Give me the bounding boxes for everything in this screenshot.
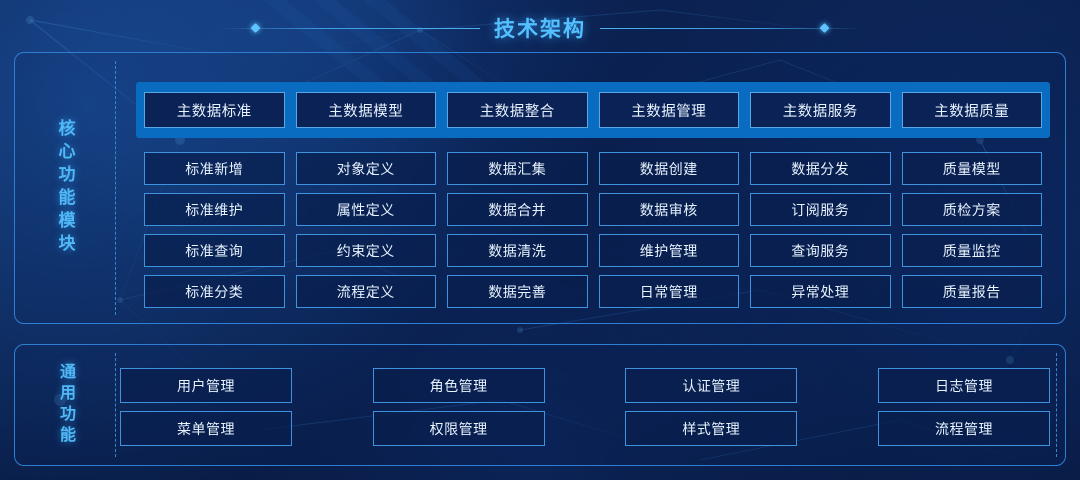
general-panel-divider-right <box>1056 353 1057 457</box>
core-cell-1-5[interactable]: 质检方案 <box>902 193 1043 226</box>
general-cell-3-0[interactable]: 日志管理 <box>878 368 1050 403</box>
title-rule-right <box>600 28 862 29</box>
master-data-header-band: 主数据标准 主数据模型 主数据整合 主数据管理 主数据服务 主数据质量 <box>136 82 1050 138</box>
core-modules-label: 核心功能模块 <box>45 53 85 323</box>
page-title: 技术架构 <box>494 13 586 43</box>
core-grid-row-1: 标准维护 属性定义 数据合并 数据审核 订阅服务 质检方案 <box>144 193 1042 226</box>
core-cell-1-4[interactable]: 订阅服务 <box>750 193 891 226</box>
general-functions-label-text: 通用功能 <box>53 363 77 447</box>
title-rule-left <box>218 28 480 29</box>
core-cell-2-1[interactable]: 约束定义 <box>296 234 437 267</box>
page-title-row: 技术架构 <box>0 10 1080 46</box>
core-cell-2-3[interactable]: 维护管理 <box>599 234 740 267</box>
core-cell-1-1[interactable]: 属性定义 <box>296 193 437 226</box>
general-cell-3-1[interactable]: 流程管理 <box>878 411 1050 446</box>
core-cell-3-1[interactable]: 流程定义 <box>296 275 437 308</box>
core-cell-2-4[interactable]: 查询服务 <box>750 234 891 267</box>
diamond-marker-left-icon <box>251 23 261 33</box>
header-cell-0[interactable]: 主数据标准 <box>144 92 285 128</box>
general-functions-label: 通用功能 <box>45 345 85 465</box>
core-cell-2-2[interactable]: 数据清洗 <box>447 234 588 267</box>
core-cell-1-3[interactable]: 数据审核 <box>599 193 740 226</box>
diamond-marker-right-icon <box>820 23 830 33</box>
general-panel-divider-left <box>115 353 116 457</box>
core-cell-1-0[interactable]: 标准维护 <box>144 193 285 226</box>
general-cell-2-0[interactable]: 认证管理 <box>625 368 797 403</box>
core-grid-row-0: 标准新增 对象定义 数据汇集 数据创建 数据分发 质量模型 <box>144 152 1042 185</box>
general-column-3: 日志管理 流程管理 <box>878 368 1050 446</box>
core-grid-row-3: 标准分类 流程定义 数据完善 日常管理 异常处理 质量报告 <box>144 275 1042 308</box>
header-cell-4[interactable]: 主数据服务 <box>750 92 891 128</box>
core-grid-row-2: 标准查询 约束定义 数据清洗 维护管理 查询服务 质量监控 <box>144 234 1042 267</box>
header-cell-3[interactable]: 主数据管理 <box>599 92 740 128</box>
header-cell-5[interactable]: 主数据质量 <box>902 92 1043 128</box>
general-cell-0-0[interactable]: 用户管理 <box>120 368 292 403</box>
core-modules-label-text: 核心功能模块 <box>53 119 78 257</box>
general-cell-1-1[interactable]: 权限管理 <box>373 411 545 446</box>
general-cell-2-1[interactable]: 样式管理 <box>625 411 797 446</box>
header-cell-1[interactable]: 主数据模型 <box>296 92 437 128</box>
core-cell-3-5[interactable]: 质量报告 <box>902 275 1043 308</box>
core-cell-3-2[interactable]: 数据完善 <box>447 275 588 308</box>
general-functions-grid: 用户管理 菜单管理 角色管理 权限管理 认证管理 样式管理 日志管理 流程管理 <box>120 368 1050 446</box>
core-cell-0-2[interactable]: 数据汇集 <box>447 152 588 185</box>
general-cell-0-1[interactable]: 菜单管理 <box>120 411 292 446</box>
core-cell-2-0[interactable]: 标准查询 <box>144 234 285 267</box>
core-cell-3-0[interactable]: 标准分类 <box>144 275 285 308</box>
core-modules-grid: 标准新增 对象定义 数据汇集 数据创建 数据分发 质量模型 标准维护 属性定义 … <box>144 152 1042 308</box>
core-cell-3-3[interactable]: 日常管理 <box>599 275 740 308</box>
core-cell-1-2[interactable]: 数据合并 <box>447 193 588 226</box>
general-column-0: 用户管理 菜单管理 <box>120 368 292 446</box>
core-cell-2-5[interactable]: 质量监控 <box>902 234 1043 267</box>
core-cell-0-5[interactable]: 质量模型 <box>902 152 1043 185</box>
core-cell-3-4[interactable]: 异常处理 <box>750 275 891 308</box>
general-column-1: 角色管理 权限管理 <box>373 368 545 446</box>
core-cell-0-1[interactable]: 对象定义 <box>296 152 437 185</box>
general-column-2: 认证管理 样式管理 <box>625 368 797 446</box>
core-cell-0-0[interactable]: 标准新增 <box>144 152 285 185</box>
header-cell-2[interactable]: 主数据整合 <box>447 92 588 128</box>
core-cell-0-4[interactable]: 数据分发 <box>750 152 891 185</box>
general-cell-1-0[interactable]: 角色管理 <box>373 368 545 403</box>
core-cell-0-3[interactable]: 数据创建 <box>599 152 740 185</box>
core-panel-divider <box>115 61 116 315</box>
